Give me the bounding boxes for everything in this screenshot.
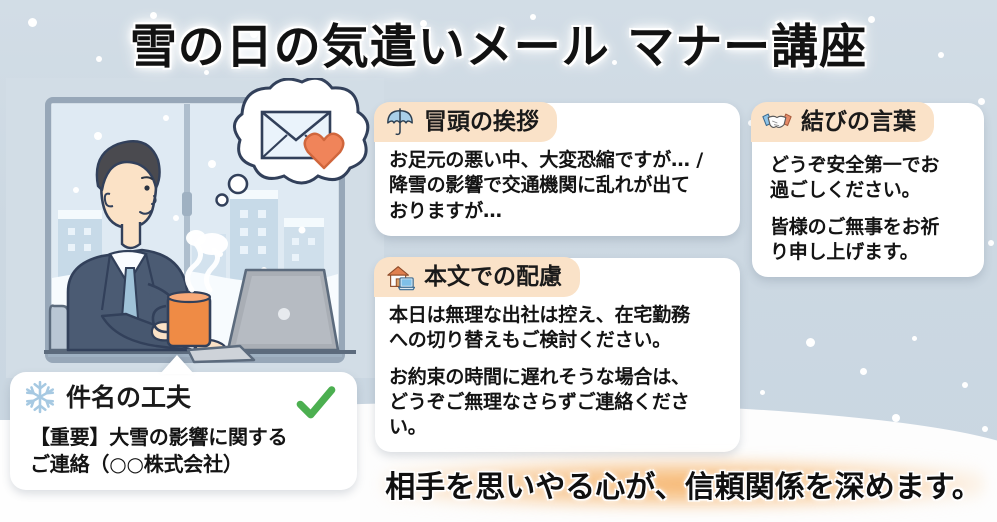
card-opening-line-1: お足元の悪い中、大変恐縮ですが… / 降雪の影響で交通機関に乱れが出て おります… bbox=[389, 148, 726, 224]
check-icon bbox=[295, 382, 337, 424]
card-opening-greeting[interactable]: 冒頭の挨拶 お足元の悪い中、大変恐縮ですが… / 降雪の影響で交通機関に乱れが出… bbox=[375, 103, 740, 236]
umbrella-icon bbox=[385, 107, 415, 137]
infographic-canvas: 雪の日の気遣いメール マナー講座 bbox=[0, 0, 997, 522]
page-title: 雪の日の気遣いメール マナー講座 bbox=[130, 8, 867, 77]
card-opening-header: 冒頭の挨拶 bbox=[374, 102, 557, 142]
card-subject-header: 件名の工夫 bbox=[9, 371, 209, 419]
card-subject-title: 件名の工夫 bbox=[66, 385, 191, 410]
card-opening-title: 冒頭の挨拶 bbox=[424, 111, 539, 134]
card-subject-line[interactable]: 件名の工夫 【重要】大雪の影響に関する ご連絡（○○株式会社） bbox=[10, 372, 357, 490]
bottom-banner: 相手を思いやる心が、信頼関係を深めます。 bbox=[376, 454, 991, 514]
card-body-care-line-2: お約束の時間に遅れそうな場合は、 どうぞご無理なさらずご連絡ください。 bbox=[389, 365, 726, 441]
card-closing-line-1: どうぞ安全第一でお 過ごしください。 bbox=[770, 153, 972, 204]
card-closing-header: 結びの言葉 bbox=[751, 102, 934, 142]
banner-text: 相手を思いやる心が、信頼関係を深めます。 bbox=[385, 462, 981, 506]
businessman-at-window-illustration bbox=[6, 78, 384, 378]
card-body-care-title: 本文での配慮 bbox=[424, 266, 562, 289]
card-closing-words[interactable]: 結びの言葉 どうぞ安全第一でお 過ごしください。 皆様のご無事をお祈 り申し上げ… bbox=[752, 103, 984, 277]
card-closing-line-2: 皆様のご無事をお祈 り申し上げます。 bbox=[770, 215, 972, 266]
snowflake-icon bbox=[23, 380, 57, 414]
house-laptop-icon bbox=[385, 262, 415, 292]
handshake-icon bbox=[762, 107, 792, 137]
card-subject-line-1: 【重要】大雪の影響に関する ご連絡（○○株式会社） bbox=[30, 424, 343, 478]
card-body-care-header: 本文での配慮 bbox=[374, 257, 580, 297]
page-title-wrap: 雪の日の気遣いメール マナー講座 bbox=[0, 8, 997, 77]
card-body-consideration[interactable]: 本文での配慮 本日は無理な出社は控え、在宅勤務 への切り替えもご検討ください。 … bbox=[375, 258, 740, 452]
card-body-care-line-1: 本日は無理な出社は控え、在宅勤務 への切り替えもご検討ください。 bbox=[389, 303, 726, 354]
card-closing-title: 結びの言葉 bbox=[801, 111, 916, 134]
